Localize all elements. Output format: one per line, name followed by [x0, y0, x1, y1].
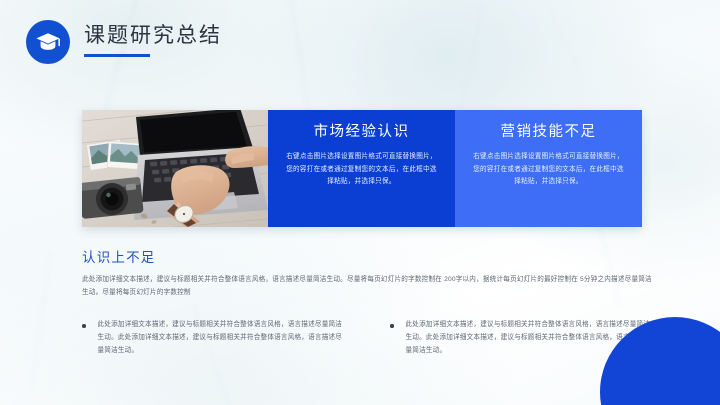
top-content-row: 市场经验认识 右键点击图片选择设置图片格式可直接替换图片，您的容打在或者通过复制…: [82, 110, 642, 227]
title-underline-rule: [84, 54, 150, 57]
graduation-cap-icon: [35, 31, 61, 53]
background-vein: [458, 1, 485, 119]
background-vein: [549, 9, 581, 73]
bullet-text: 此处添加详细文本描述，建议与标题相关并符合整体语言风格，语言描述尽量简洁生动。此…: [406, 318, 653, 358]
card-title: 市场经验认识: [285, 124, 438, 141]
card-body-text: 右键点击图片选择设置图片格式可直接替换图片，您的容打在或者通过复制您的文本后，在…: [285, 151, 438, 188]
card-marketing-skill[interactable]: 营销技能不足 右键点击图片选择设置图片格式可直接替换图片，您的容打在或者通过复制…: [455, 110, 642, 227]
background-vein: [30, 251, 51, 390]
card-title: 营销技能不足: [472, 124, 625, 141]
laptop-camera-photo: [82, 110, 268, 227]
list-item: 此处添加详细文本描述，建议与标题相关并符合整体语言风格，语言描述尽量简洁生动。此…: [390, 318, 652, 358]
slide-canvas: 课题研究总结: [0, 0, 720, 405]
bullet-dot-icon: [390, 324, 394, 328]
slide-header: 课题研究总结: [26, 20, 222, 64]
bullet-list: 此处添加详细文本描述，建议与标题相关并符合整体语言风格，语言描述尽量简洁生动。此…: [82, 318, 652, 358]
card-body-text: 右键点击图片选择设置图片格式可直接替换图片，您的容打在或者通过复制您的文本后，在…: [472, 151, 625, 188]
section-body-text: 此处添加详细文本描述，建议与标题相关并符合整体语言风格，语言描述尽量简洁生动。尽…: [82, 274, 652, 300]
title-block: 课题研究总结: [84, 20, 222, 57]
graduation-cap-badge: [26, 20, 70, 64]
bullet-text: 此处添加详细文本描述，建议与标题相关并符合整体语言风格，语言描述尽量简洁生动。此…: [98, 318, 345, 358]
section-title: 认识上不足: [82, 246, 652, 266]
list-item: 此处添加详细文本描述，建议与标题相关并符合整体语言风格，语言描述尽量简洁生动。此…: [82, 318, 344, 358]
card-market-experience[interactable]: 市场经验认识 右键点击图片选择设置图片格式可直接替换图片，您的容打在或者通过复制…: [268, 110, 455, 227]
section-awareness-gap: 认识上不足 此处添加详细文本描述，建议与标题相关并符合整体语言风格，语言描述尽量…: [82, 246, 652, 300]
bullet-dot-icon: [82, 324, 86, 328]
page-title: 课题研究总结: [84, 23, 222, 49]
